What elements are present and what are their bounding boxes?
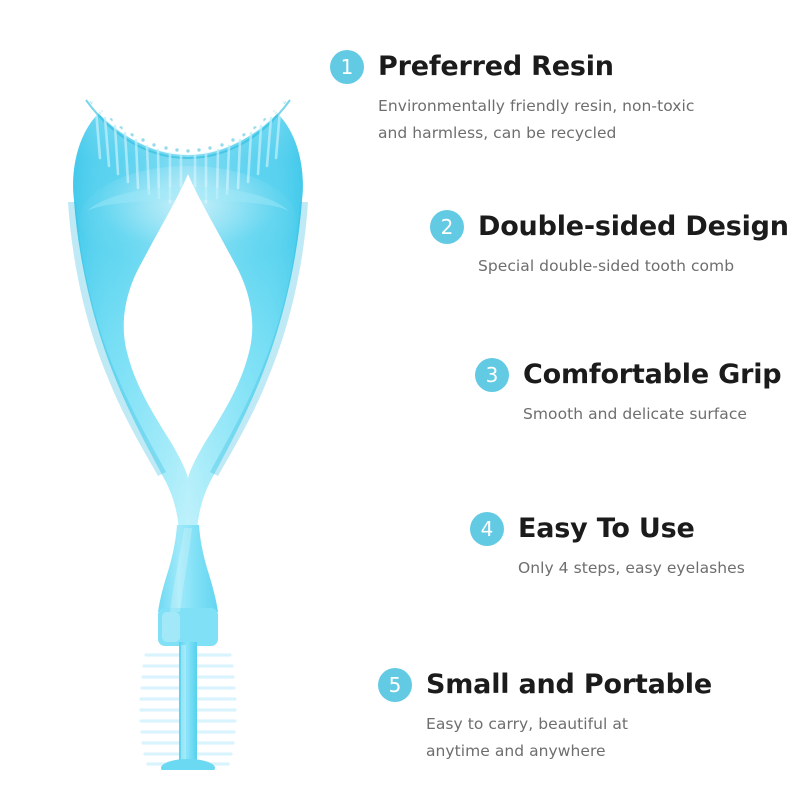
feature-1-title: Preferred Resin [378, 50, 614, 84]
feature-1-heading: 1 Preferred Resin [330, 50, 694, 84]
feature-4-description-line-1: Only 4 steps, easy eyelashes [518, 555, 745, 582]
feature-4-number-badge: 4 [470, 512, 504, 546]
product-handle [158, 525, 218, 646]
feature-4-title: Easy To Use [518, 512, 695, 546]
feature-5-number-badge: 5 [378, 668, 412, 702]
feature-3-number-badge: 3 [475, 358, 509, 392]
feature-5-description: Easy to carry, beautiful at anytime and … [426, 711, 712, 764]
feature-item-5: 5 Small and Portable Easy to carry, beau… [378, 668, 712, 764]
feature-3-heading: 3 Comfortable Grip [475, 358, 781, 392]
feature-item-3: 3 Comfortable Grip Smooth and delicate s… [475, 358, 781, 428]
product-feature-infographic: 1 Preferred Resin Environmentally friend… [0, 0, 800, 800]
feature-3-title: Comfortable Grip [523, 358, 781, 392]
feature-1-number-badge: 1 [330, 50, 364, 84]
wand-tip [161, 759, 215, 770]
feature-1-description: Environmentally friendly resin, non-toxi… [378, 93, 694, 146]
feature-item-4: 4 Easy To Use Only 4 steps, easy eyelash… [470, 512, 745, 582]
feature-4-heading: 4 Easy To Use [470, 512, 745, 546]
comb-wand [141, 642, 235, 770]
feature-2-title: Double-sided Design [478, 210, 789, 244]
feature-5-description-line-1: Easy to carry, beautiful at [426, 711, 712, 738]
product-body [68, 70, 308, 532]
feature-item-2: 2 Double-sided Design Special double-sid… [430, 210, 789, 280]
feature-5-description-line-2: anytime and anywhere [426, 738, 712, 765]
feature-5-heading: 5 Small and Portable [378, 668, 712, 702]
feature-item-1: 1 Preferred Resin Environmentally friend… [330, 50, 694, 146]
product-image [40, 70, 330, 770]
feature-1-description-line-2: and harmless, can be recycled [378, 120, 694, 147]
feature-2-description-line-1: Special double-sided tooth comb [478, 253, 789, 280]
feature-2-heading: 2 Double-sided Design [430, 210, 789, 244]
feature-3-description: Smooth and delicate surface [523, 401, 781, 428]
feature-2-number-badge: 2 [430, 210, 464, 244]
feature-2-description: Special double-sided tooth comb [478, 253, 789, 280]
feature-4-description: Only 4 steps, easy eyelashes [518, 555, 745, 582]
feature-1-description-line-1: Environmentally friendly resin, non-toxi… [378, 93, 694, 120]
feature-5-title: Small and Portable [426, 668, 712, 702]
product-illustration [40, 70, 330, 770]
feature-3-description-line-1: Smooth and delicate surface [523, 401, 781, 428]
